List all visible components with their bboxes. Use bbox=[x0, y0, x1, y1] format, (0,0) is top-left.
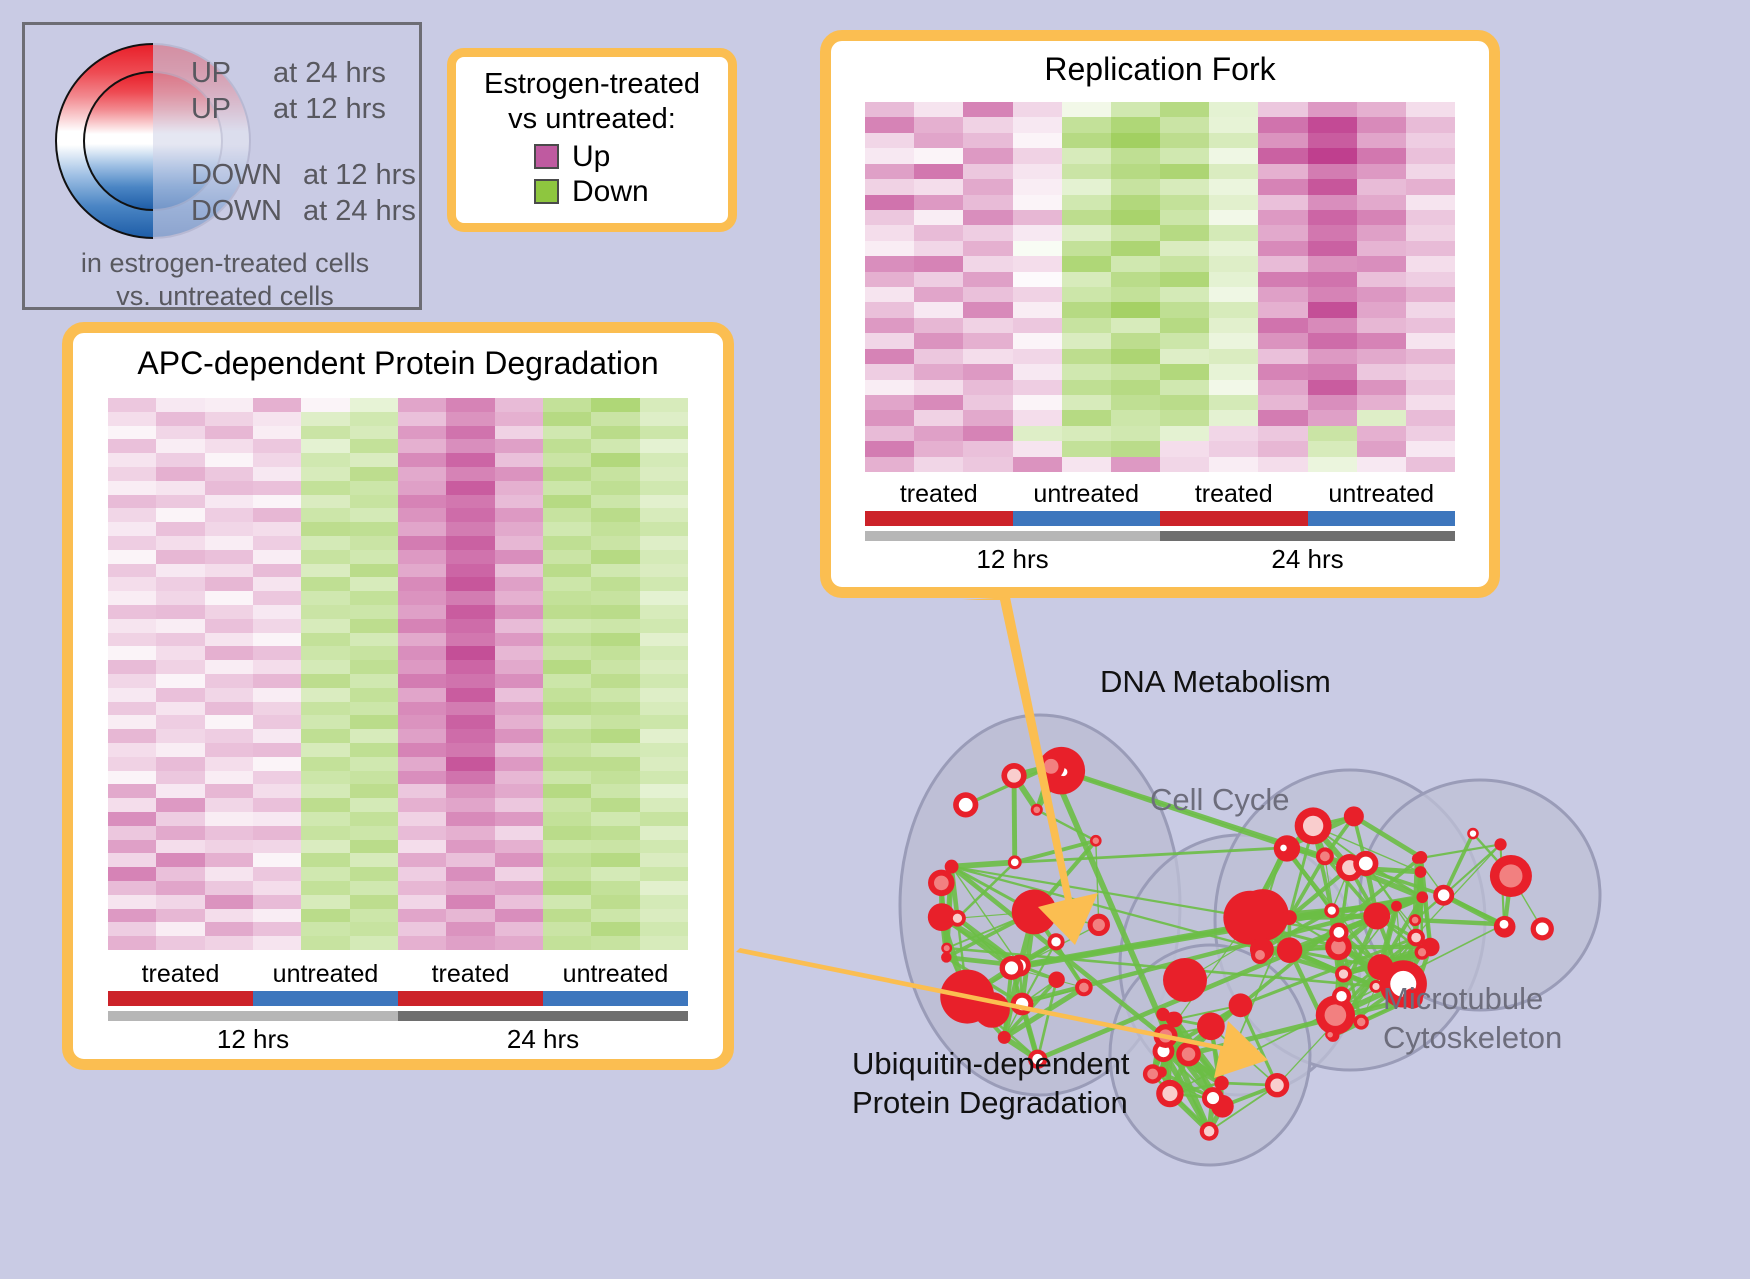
network-node-core bbox=[959, 798, 973, 812]
network-node-core bbox=[1328, 906, 1336, 914]
timepoint-color-bar bbox=[1160, 531, 1455, 541]
network-node[interactable] bbox=[941, 952, 951, 962]
timepoint-color-bar bbox=[108, 1011, 398, 1021]
wheel-label-down-24: DOWN bbox=[191, 195, 282, 228]
condition-color-bar bbox=[543, 991, 688, 1006]
network-edge bbox=[1014, 776, 1015, 863]
legend-title-line-1: Estrogen-treated bbox=[456, 67, 728, 102]
network-node-core bbox=[1207, 1092, 1219, 1104]
network-node[interactable] bbox=[1048, 972, 1064, 988]
network-node-core bbox=[1007, 769, 1021, 783]
network-node-core bbox=[1536, 922, 1549, 935]
heatmap-apc bbox=[108, 398, 688, 950]
network-node-core bbox=[953, 914, 962, 923]
panel-title-apc: APC-dependent Protein Degradation bbox=[73, 345, 723, 382]
network-node[interactable] bbox=[974, 992, 1010, 1028]
network-node[interactable] bbox=[1012, 889, 1057, 934]
network-node-core bbox=[1438, 889, 1450, 901]
condition-label: treated bbox=[865, 480, 1013, 509]
network-node[interactable] bbox=[1282, 910, 1297, 925]
network-node[interactable] bbox=[1391, 901, 1402, 912]
wheel-label-up-24: UP bbox=[191, 57, 231, 90]
network-node-core bbox=[1255, 950, 1265, 960]
network-node[interactable] bbox=[1229, 993, 1253, 1017]
cluster-label-microtubule: Microtubule Cytoskeleton bbox=[1383, 980, 1562, 1058]
network-node[interactable] bbox=[1494, 838, 1506, 850]
legend-label-down: Down bbox=[572, 177, 649, 207]
network-node-core bbox=[1159, 1029, 1172, 1042]
network-node-core bbox=[934, 876, 949, 891]
condition-labels-apc: treateduntreatedtreateduntreated bbox=[108, 960, 688, 989]
legend-item-up: Up bbox=[456, 142, 728, 172]
network-node-core bbox=[1147, 1069, 1158, 1080]
network-node-core bbox=[1033, 806, 1040, 813]
network-node-core bbox=[1051, 937, 1060, 946]
condition-label: treated bbox=[108, 960, 253, 989]
network-node-core bbox=[1470, 830, 1476, 836]
network-node-core bbox=[1320, 851, 1330, 861]
network-node-core bbox=[1500, 920, 1509, 929]
condition-label: untreated bbox=[543, 960, 688, 989]
timepoint-label: 12 hrs bbox=[865, 544, 1160, 575]
network-node[interactable] bbox=[1412, 853, 1422, 863]
heatmap-replication-fork bbox=[865, 102, 1455, 472]
condition-bar-replication-fork bbox=[865, 511, 1455, 526]
network-node-core bbox=[1357, 1018, 1365, 1026]
network-node[interactable] bbox=[998, 1031, 1011, 1044]
condition-bar-apc bbox=[108, 991, 688, 1006]
cluster-label-ubiquitin: Ubiquitin-dependent Protein Degradation bbox=[852, 1045, 1130, 1123]
network-node-core bbox=[944, 945, 950, 951]
wheel-time-up-12: at 12 hrs bbox=[273, 93, 386, 126]
network-node-core bbox=[1182, 1047, 1196, 1061]
network-node[interactable] bbox=[1416, 891, 1428, 903]
network-node-core bbox=[1016, 998, 1029, 1011]
wheel-time-down-24: at 24 hrs bbox=[303, 195, 416, 228]
time-labels-apc: 12 hrs24 hrs bbox=[108, 1024, 688, 1055]
condition-label: treated bbox=[398, 960, 543, 989]
network-node-core bbox=[1011, 859, 1019, 867]
network-node-core bbox=[1204, 1126, 1214, 1136]
color-wheel-caption: in estrogen-treated cells vs. untreated … bbox=[25, 247, 425, 313]
up-color-swatch-icon bbox=[534, 144, 559, 169]
legend-title: Estrogen-treated vs untreated: bbox=[456, 57, 728, 137]
network-node[interactable] bbox=[1163, 958, 1207, 1002]
condition-color-bar bbox=[865, 511, 1013, 526]
network-node-core bbox=[1359, 857, 1373, 871]
down-color-swatch-icon bbox=[534, 179, 559, 204]
network-node-core bbox=[1499, 864, 1522, 887]
microtubule-line-2: Cytoskeleton bbox=[1383, 1019, 1562, 1058]
condition-color-bar bbox=[1013, 511, 1161, 526]
color-wheel-legend-box: UP at 24 hrs UP at 12 hrs DOWN at 12 hrs… bbox=[22, 22, 422, 310]
network-node[interactable] bbox=[1367, 954, 1393, 980]
network-node-core bbox=[1418, 948, 1426, 956]
condition-label: untreated bbox=[1013, 480, 1161, 509]
microtubule-line-1: Microtubule bbox=[1383, 980, 1562, 1019]
network-node-core bbox=[1162, 1086, 1177, 1101]
network-node-core bbox=[1044, 759, 1059, 774]
condition-color-bar bbox=[1308, 511, 1456, 526]
condition-color-bar bbox=[1160, 511, 1308, 526]
wheel-label-up-12: UP bbox=[191, 93, 231, 126]
network-node-core bbox=[1280, 845, 1287, 852]
caption-line-2: vs. untreated cells bbox=[25, 280, 425, 313]
network-node-core bbox=[1079, 983, 1089, 993]
network-node-core bbox=[1339, 969, 1348, 978]
network-node[interactable] bbox=[945, 860, 959, 874]
network-node-core bbox=[1005, 961, 1018, 974]
condition-color-bar bbox=[398, 991, 543, 1006]
network-node-core bbox=[1336, 991, 1347, 1002]
network-node[interactable] bbox=[1277, 937, 1303, 963]
panel-title-replication-fork: Replication Fork bbox=[831, 51, 1489, 88]
condition-color-bar bbox=[108, 991, 253, 1006]
time-bar-replication-fork bbox=[865, 531, 1455, 541]
caption-line-1: in estrogen-treated cells bbox=[25, 247, 425, 280]
timepoint-color-bar bbox=[398, 1011, 688, 1021]
legend-label-up: Up bbox=[572, 142, 610, 172]
legend-item-down: Down bbox=[456, 177, 728, 207]
condition-labels-replication-fork: treateduntreatedtreateduntreated bbox=[865, 480, 1455, 509]
timepoint-label: 24 hrs bbox=[1160, 544, 1455, 575]
timepoint-label: 12 hrs bbox=[108, 1024, 398, 1055]
network-node[interactable] bbox=[1363, 903, 1390, 930]
wheel-time-down-12: at 12 hrs bbox=[303, 159, 416, 192]
time-bar-apc bbox=[108, 1011, 688, 1021]
network-node-core bbox=[1325, 1004, 1347, 1026]
ubiquitin-line-2: Protein Degradation bbox=[852, 1084, 1130, 1123]
updown-legend-card: Estrogen-treated vs untreated: Up Down bbox=[447, 48, 737, 232]
cluster-label-cell-cycle: Cell Cycle bbox=[1150, 782, 1290, 818]
condition-label: untreated bbox=[253, 960, 398, 989]
time-labels-replication-fork: 12 hrs24 hrs bbox=[865, 544, 1455, 575]
network-node-core bbox=[1093, 919, 1105, 931]
condition-label: treated bbox=[1160, 480, 1308, 509]
ubiquitin-line-1: Ubiquitin-dependent bbox=[852, 1045, 1130, 1084]
cluster-label-dna-metabolism: DNA Metabolism bbox=[1100, 664, 1331, 700]
wheel-label-down-12: DOWN bbox=[191, 159, 282, 192]
timepoint-color-bar bbox=[865, 531, 1160, 541]
panel-apc-degradation: APC-dependent Protein Degradation treate… bbox=[62, 322, 734, 1070]
protein-interaction-network bbox=[790, 625, 1750, 1279]
network-node[interactable] bbox=[1237, 889, 1289, 941]
condition-color-bar bbox=[253, 991, 398, 1006]
legend-title-line-2: vs untreated: bbox=[456, 102, 728, 137]
condition-label: untreated bbox=[1308, 480, 1456, 509]
network-node-core bbox=[1372, 983, 1379, 990]
network-node[interactable] bbox=[1415, 866, 1427, 878]
network-node-core bbox=[1093, 838, 1099, 844]
network-node[interactable] bbox=[1344, 806, 1364, 826]
panel-replication-fork: Replication Fork treateduntreatedtreated… bbox=[820, 30, 1500, 598]
network-node-core bbox=[1270, 1079, 1283, 1092]
network-node-core bbox=[1303, 816, 1323, 836]
network-node-core bbox=[1411, 933, 1421, 943]
network-node-core bbox=[1334, 927, 1345, 938]
network-node-core bbox=[1327, 1032, 1333, 1038]
wheel-time-up-24: at 24 hrs bbox=[273, 57, 386, 90]
network-node[interactable] bbox=[1197, 1012, 1225, 1040]
network-node-core bbox=[1412, 917, 1419, 924]
timepoint-label: 24 hrs bbox=[398, 1024, 688, 1055]
